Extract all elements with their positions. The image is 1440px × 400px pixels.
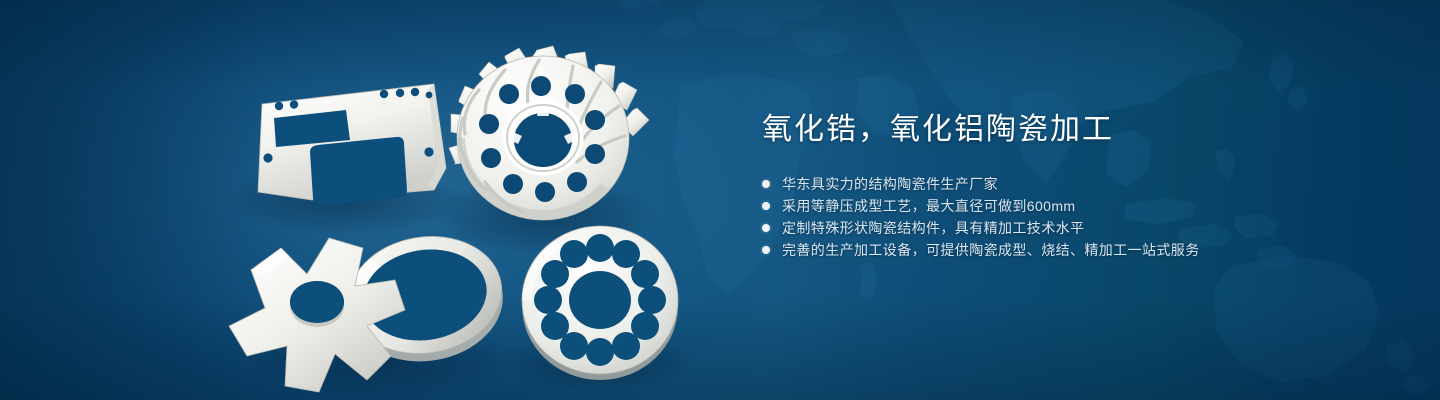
banner-copy: 氧化锆，氧化铝陶瓷加工 华东具实力的结构陶瓷件生产厂家 采用等静压成型工艺，最大… [762,110,1382,261]
list-item: 华东具实力的结构陶瓷件生产厂家 [762,173,1382,195]
bullet-dot-icon [762,246,770,254]
bullet-dot-icon [762,202,770,210]
list-item: 完善的生产加工设备，可提供陶瓷成型、烧结、精加工一站式服务 [762,239,1382,261]
feature-list: 华东具实力的结构陶瓷件生产厂家 采用等静压成型工艺，最大直径可做到600mm 定… [762,173,1382,261]
feature-text: 定制特殊形状陶瓷结构件，具有精加工技术水平 [782,217,1084,239]
feature-text: 完善的生产加工设备，可提供陶瓷成型、烧结、精加工一站式服务 [782,239,1200,261]
hero-banner: 氧化锆，氧化铝陶瓷加工 华东具实力的结构陶瓷件生产厂家 采用等静压成型工艺，最大… [0,0,1440,400]
bullet-dot-icon [762,224,770,232]
list-item: 采用等静压成型工艺，最大直径可做到600mm [762,195,1382,217]
page-title: 氧化锆，氧化铝陶瓷加工 [762,110,1382,150]
feature-text: 采用等静压成型工艺，最大直径可做到600mm [782,195,1075,217]
list-item: 定制特殊形状陶瓷结构件，具有精加工技术水平 [762,217,1382,239]
feature-text: 华东具实力的结构陶瓷件生产厂家 [782,173,998,195]
bullet-dot-icon [762,180,770,188]
